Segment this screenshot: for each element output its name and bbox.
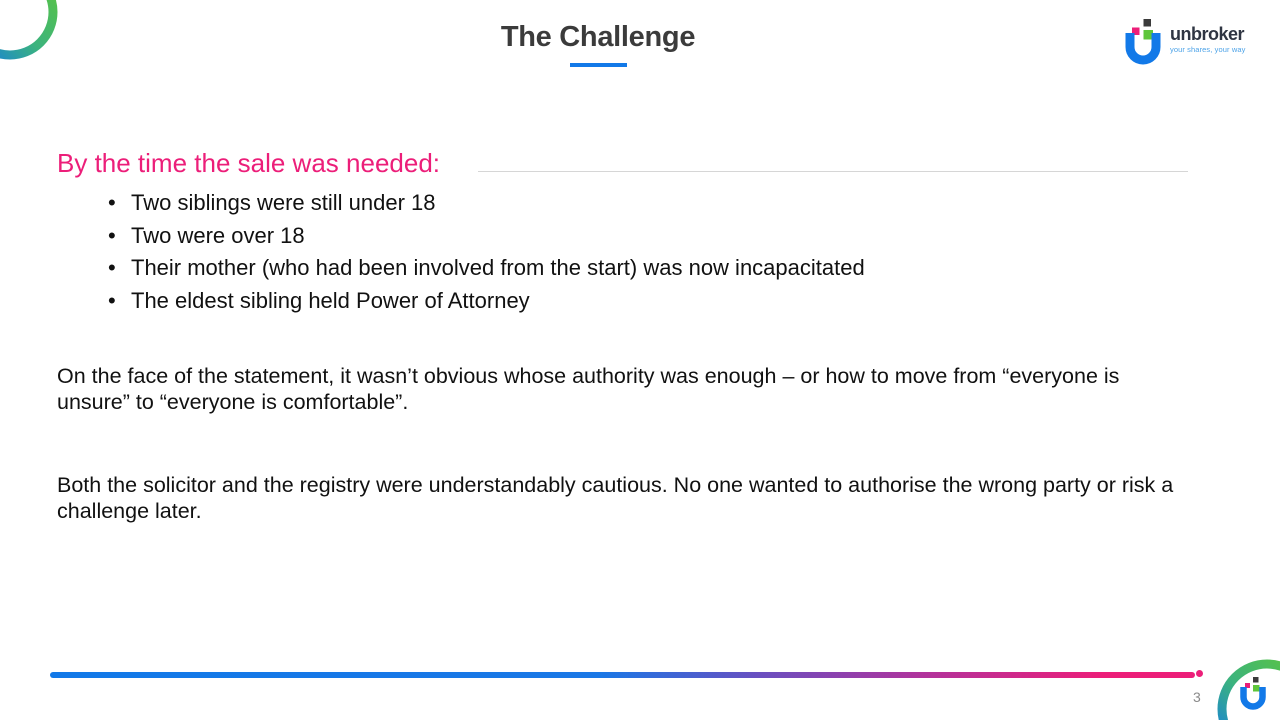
logo-name: unbroker (1170, 25, 1268, 43)
body-paragraph-two: Both the solicitor and the registry were… (57, 472, 1187, 524)
logo-tagline: your shares, your way (1170, 46, 1268, 54)
bullet-list: • Two siblings were still under 18 • Two… (57, 187, 1197, 317)
slide-canvas: The Challenge unbroker your shares, your… (0, 0, 1280, 720)
page-title: The Challenge (0, 22, 1196, 54)
unbroker-u-mark-icon (1122, 17, 1166, 65)
logo-wordmark: unbroker your shares, your way (1170, 25, 1268, 54)
list-item-label: The eldest sibling held Power of Attorne… (131, 288, 530, 313)
list-item: • Their mother (who had been involved fr… (57, 252, 1197, 285)
list-item: • The eldest sibling held Power of Attor… (57, 285, 1197, 318)
list-item: • Two siblings were still under 18 (57, 187, 1197, 220)
brand-logo: unbroker your shares, your way (1122, 17, 1268, 65)
list-item-label: Their mother (who had been involved from… (131, 255, 865, 280)
bullet-marker-icon: • (108, 252, 116, 285)
lead-heading: By the time the sale was needed: (57, 146, 440, 180)
lead-heading-row: By the time the sale was needed: (57, 146, 1197, 180)
bullet-marker-icon: • (108, 187, 116, 220)
list-item-label: Two siblings were still under 18 (131, 190, 435, 215)
list-item-label: Two were over 18 (131, 223, 305, 248)
bullet-marker-icon: • (108, 220, 116, 253)
decorative-dot-icon (1196, 670, 1203, 677)
bottom-gradient-bar (50, 672, 1195, 678)
slide-body: By the time the sale was needed: • Two s… (57, 146, 1197, 524)
body-paragraph-one: On the face of the statement, it wasn’t … (57, 363, 1187, 415)
page-number: 3 (1193, 690, 1201, 704)
title-block: The Challenge (0, 22, 1196, 67)
unbroker-u-mark-corner-icon (1238, 676, 1268, 710)
heading-divider (478, 171, 1188, 172)
bullet-marker-icon: • (108, 285, 116, 318)
list-item: • Two were over 18 (57, 220, 1197, 253)
title-underline (570, 63, 627, 67)
